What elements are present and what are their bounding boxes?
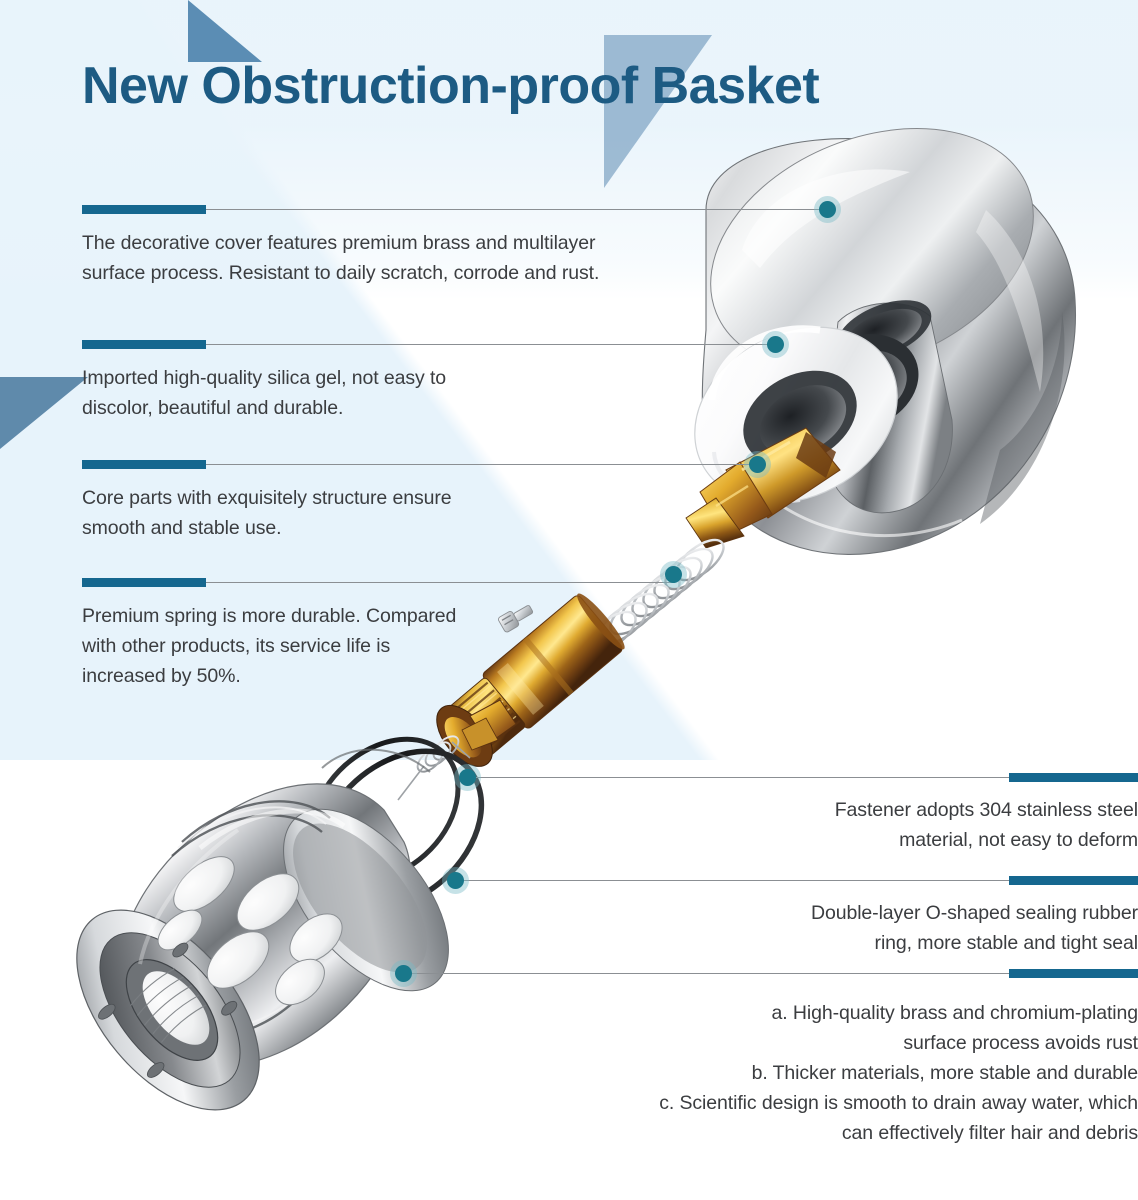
callout-text-line2: surface process. Resistant to daily scra… bbox=[82, 258, 682, 288]
callout-text: Imported high-quality silica gel, not ea… bbox=[82, 363, 642, 423]
callout-text: Double-layer O-shaped sealing rubber rin… bbox=[638, 898, 1138, 958]
callout-dot bbox=[819, 201, 836, 218]
callout-line bbox=[470, 777, 1010, 778]
callout-dot bbox=[749, 456, 766, 473]
callout-text-line2: discolor, beautiful and durable. bbox=[82, 393, 642, 423]
callout-dot bbox=[459, 769, 476, 786]
callout-text: The decorative cover features premium br… bbox=[82, 228, 682, 288]
callout-dot bbox=[447, 872, 464, 889]
callout-text-line4: c. Scientific design is smooth to drain … bbox=[530, 1088, 1138, 1118]
callout-text-line2: material, not easy to deform bbox=[638, 825, 1138, 855]
callout-text-line3: increased by 50%. bbox=[82, 661, 552, 691]
callout-line bbox=[406, 973, 1010, 974]
infographic-page: New Obstruction-proof Basket bbox=[0, 0, 1138, 1200]
callout-text: a. High-quality brass and chromium-plati… bbox=[530, 998, 1138, 1148]
callout-text-line5: can effectively filter hair and debris bbox=[530, 1118, 1138, 1148]
callout-text-line1: a. High-quality brass and chromium-plati… bbox=[530, 998, 1138, 1028]
callout-text: Fastener adopts 304 stainless steel mate… bbox=[638, 795, 1138, 855]
callout-line bbox=[205, 582, 675, 583]
callout-text-line1: Core parts with exquisitely structure en… bbox=[82, 483, 642, 513]
callout-line bbox=[458, 880, 1010, 881]
callout-text-line2: with other products, its service life is bbox=[82, 631, 552, 661]
callout-dot bbox=[395, 965, 412, 982]
callout-accent-bar bbox=[1009, 969, 1138, 978]
callout-text-line2: ring, more stable and tight seal bbox=[638, 928, 1138, 958]
callout-text: Core parts with exquisitely structure en… bbox=[82, 483, 642, 543]
callout-dot bbox=[767, 336, 784, 353]
callout-text-line2: surface process avoids rust bbox=[530, 1028, 1138, 1058]
callout-accent-bar bbox=[1009, 773, 1138, 782]
callout-line bbox=[205, 464, 765, 465]
callout-line bbox=[205, 344, 775, 345]
callout-accent-bar bbox=[82, 340, 206, 349]
callout-text-line1: The decorative cover features premium br… bbox=[82, 228, 682, 258]
page-title: New Obstruction-proof Basket bbox=[82, 55, 1082, 117]
callout-dot bbox=[665, 566, 682, 583]
callout-text-line3: b. Thicker materials, more stable and du… bbox=[530, 1058, 1138, 1088]
callout-text-line1: Imported high-quality silica gel, not ea… bbox=[82, 363, 642, 393]
callout-text-line2: smooth and stable use. bbox=[82, 513, 642, 543]
callout-accent-bar bbox=[1009, 876, 1138, 885]
callout-accent-bar bbox=[82, 578, 206, 587]
callout-accent-bar bbox=[82, 205, 206, 214]
callout-line bbox=[205, 209, 827, 210]
callout-text-line1: Double-layer O-shaped sealing rubber bbox=[638, 898, 1138, 928]
callout-text-line1: Fastener adopts 304 stainless steel bbox=[638, 795, 1138, 825]
callout-text-line1: Premium spring is more durable. Compared bbox=[82, 601, 552, 631]
callout-accent-bar bbox=[82, 460, 206, 469]
callout-text: Premium spring is more durable. Compared… bbox=[82, 601, 552, 691]
